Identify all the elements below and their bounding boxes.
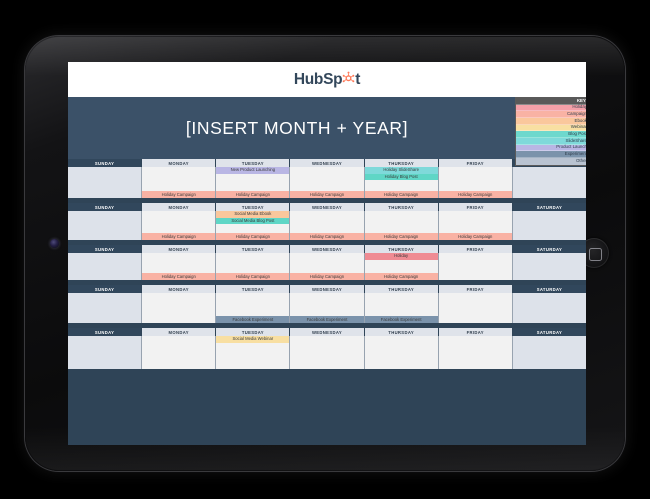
- day-header-friday: FRIDAY: [439, 203, 513, 211]
- calendar-week-1: SUNDAYMONDAYTUESDAYWEDNESDAYTHURSDAYFRID…: [68, 159, 586, 198]
- event-chip[interactable]: Holiday SlideShare: [365, 167, 438, 174]
- calendar-cell-monday[interactable]: Holiday Campaign: [142, 167, 216, 198]
- event-chip[interactable]: Holiday: [365, 253, 438, 260]
- day-header-monday: MONDAY: [142, 245, 216, 253]
- day-header-thursday: THURSDAY: [365, 203, 439, 211]
- calendar-cell-saturday[interactable]: [513, 211, 586, 240]
- day-header-row: SUNDAYMONDAYTUESDAYWEDNESDAYTHURSDAYFRID…: [68, 245, 586, 253]
- calendar-cell-tuesday[interactable]: Social Media Webinar: [216, 336, 290, 369]
- event-chip[interactable]: Holiday Campaign: [365, 273, 438, 280]
- event-chip[interactable]: Holiday Campaign: [365, 233, 438, 240]
- cell-bottom-events: Holiday Campaign: [365, 273, 438, 280]
- cell-top-events: Holiday: [365, 253, 438, 260]
- day-header-thursday: THURSDAY: [365, 328, 439, 336]
- tablet-device: HubSp t: [25, 36, 625, 471]
- cell-top-events: New Product Launching: [216, 167, 289, 174]
- day-header-row: SUNDAYMONDAYTUESDAYWEDNESDAYTHURSDAYFRID…: [68, 203, 586, 211]
- calendar-cell-sunday[interactable]: [68, 167, 142, 198]
- calendar-cell-saturday[interactable]: [513, 253, 586, 280]
- front-camera-icon: [50, 239, 59, 248]
- tablet-screen: HubSp t: [68, 62, 586, 445]
- day-header-thursday: THURSDAY: [365, 245, 439, 253]
- cell-bottom-events: Facebook Experiment: [290, 316, 363, 323]
- cell-bottom-events: Holiday Campaign: [290, 191, 363, 198]
- cell-bottom-events: Facebook Experiment: [365, 316, 438, 323]
- calendar-bottom-band: [68, 369, 586, 377]
- event-chip[interactable]: Holiday Campaign: [290, 273, 363, 280]
- legend-item-label: Experiment: [565, 152, 586, 156]
- day-header-row: SUNDAYMONDAYTUESDAYWEDNESDAYTHURSDAYFRID…: [68, 285, 586, 293]
- day-header-saturday: SATURDAY: [513, 245, 586, 253]
- day-header-monday: MONDAY: [142, 159, 216, 167]
- event-chip[interactable]: Holiday Campaign: [216, 273, 289, 280]
- day-header-row: SUNDAYMONDAYTUESDAYWEDNESDAYTHURSDAYFRID…: [68, 159, 586, 167]
- day-header-sunday: SUNDAY: [68, 159, 142, 167]
- cell-bottom-events: Holiday Campaign: [290, 273, 363, 280]
- legend-item-label: Product Launch: [556, 145, 586, 149]
- calendar-cells-row: Social Media Webinar: [68, 336, 586, 369]
- page-title: [INSERT MONTH + YEAR]: [186, 118, 408, 139]
- event-chip[interactable]: New Product Launching: [216, 167, 289, 174]
- cell-bottom-events: Holiday Campaign: [216, 191, 289, 198]
- calendar-cell-friday[interactable]: Holiday Campaign: [439, 167, 513, 198]
- logo-text-part2: t: [355, 71, 360, 89]
- legend-item-label: Holiday: [572, 105, 586, 109]
- day-header-thursday: THURSDAY: [365, 285, 439, 293]
- day-header-tuesday: TUESDAY: [216, 285, 290, 293]
- calendar-cell-thursday[interactable]: HolidayHoliday Campaign: [365, 253, 439, 280]
- day-header-tuesday: TUESDAY: [216, 159, 290, 167]
- event-chip[interactable]: Facebook Experiment: [365, 316, 438, 323]
- day-header-monday: MONDAY: [142, 203, 216, 211]
- day-header-monday: MONDAY: [142, 328, 216, 336]
- calendar-cell-saturday[interactable]: [513, 293, 586, 323]
- calendar-cell-wednesday[interactable]: Holiday Campaign: [290, 253, 364, 280]
- day-header-saturday: SATURDAY: [513, 203, 586, 211]
- hubspot-sprocket-icon: [342, 71, 355, 84]
- calendar-cell-sunday[interactable]: [68, 293, 142, 323]
- day-header-wednesday: WEDNESDAY: [290, 245, 364, 253]
- calendar-title-band: [INSERT MONTH + YEAR] KEY: HolidayCampai…: [68, 97, 586, 159]
- event-chip[interactable]: Holiday Campaign: [290, 191, 363, 198]
- day-header-wednesday: WEDNESDAY: [290, 203, 364, 211]
- legend-item-blog-post: Blog Post: [516, 131, 586, 138]
- day-header-wednesday: WEDNESDAY: [290, 285, 364, 293]
- event-chip[interactable]: Social Media Ebook: [216, 211, 289, 218]
- cell-bottom-events: Holiday Campaign: [142, 191, 215, 198]
- calendar-cell-friday[interactable]: [439, 336, 513, 369]
- calendar-cell-friday[interactable]: Holiday Campaign: [439, 211, 513, 240]
- event-chip[interactable]: Facebook Experiment: [290, 316, 363, 323]
- day-header-tuesday: TUESDAY: [216, 245, 290, 253]
- calendar-cells-row: Holiday CampaignSocial Media EbookSocial…: [68, 211, 586, 240]
- day-header-tuesday: TUESDAY: [216, 203, 290, 211]
- legend-item-label: Blog Post: [568, 132, 586, 136]
- calendar-cell-sunday[interactable]: [68, 253, 142, 280]
- calendar-cell-wednesday[interactable]: [290, 336, 364, 369]
- event-chip[interactable]: Holiday Campaign: [142, 233, 215, 240]
- calendar-cell-tuesday[interactable]: Social Media EbookSocial Media Blog Post…: [216, 211, 290, 240]
- calendar-cell-monday[interactable]: [142, 336, 216, 369]
- cell-bottom-events: Holiday Campaign: [365, 191, 438, 198]
- calendar-cell-thursday[interactable]: Holiday SlideShareHoliday Blog PostHolid…: [365, 167, 439, 198]
- calendar-cell-wednesday[interactable]: Facebook Experiment: [290, 293, 364, 323]
- calendar-cell-wednesday[interactable]: Holiday Campaign: [290, 167, 364, 198]
- day-header-sunday: SUNDAY: [68, 203, 142, 211]
- calendar-cell-thursday[interactable]: Holiday Campaign: [365, 211, 439, 240]
- calendar-cells-row: Holiday CampaignNew Product LaunchingHol…: [68, 167, 586, 198]
- event-chip[interactable]: Facebook Experiment: [216, 316, 289, 323]
- event-chip[interactable]: Holiday Campaign: [216, 191, 289, 198]
- calendar-cell-wednesday[interactable]: Holiday Campaign: [290, 211, 364, 240]
- calendar-cell-thursday[interactable]: Facebook Experiment: [365, 293, 439, 323]
- day-header-saturday: SATURDAY: [513, 328, 586, 336]
- legend-item-experiment: Experiment: [516, 151, 586, 158]
- calendar-week-2: SUNDAYMONDAYTUESDAYWEDNESDAYTHURSDAYFRID…: [68, 203, 586, 240]
- event-chip[interactable]: Holiday Blog Post: [365, 174, 438, 181]
- cell-top-events: Holiday SlideShareHoliday Blog Post: [365, 167, 438, 180]
- day-header-sunday: SUNDAY: [68, 245, 142, 253]
- legend-item-label: SlideShare: [566, 139, 586, 143]
- event-chip[interactable]: Holiday Campaign: [290, 233, 363, 240]
- legend-item-campaign: Campaign: [516, 111, 586, 118]
- cell-top-events: Social Media Webinar: [216, 336, 289, 343]
- legend-item-label: Campaign: [567, 112, 586, 116]
- event-chip[interactable]: Social Media Webinar: [216, 336, 289, 343]
- content-calendar: SUNDAYMONDAYTUESDAYWEDNESDAYTHURSDAYFRID…: [68, 159, 586, 369]
- cell-bottom-events: Holiday Campaign: [439, 233, 512, 240]
- legend-item-label: Webinar: [571, 125, 586, 129]
- calendar-cell-saturday[interactable]: [513, 167, 586, 198]
- day-header-friday: FRIDAY: [439, 285, 513, 293]
- legend-item-label: Ebook: [575, 119, 586, 123]
- calendar-cell-saturday[interactable]: [513, 336, 586, 369]
- event-chip[interactable]: Holiday Campaign: [439, 191, 512, 198]
- brand-header: HubSp t: [68, 62, 586, 97]
- cell-bottom-events: Holiday Campaign: [142, 273, 215, 280]
- day-header-sunday: SUNDAY: [68, 285, 142, 293]
- day-header-thursday: THURSDAY: [365, 159, 439, 167]
- cell-top-events: Social Media EbookSocial Media Blog Post: [216, 211, 289, 224]
- legend-key: KEY: HolidayCampaignEbookWebinarBlog Pos…: [515, 97, 586, 166]
- cell-bottom-events: Holiday Campaign: [216, 273, 289, 280]
- day-header-wednesday: WEDNESDAY: [290, 159, 364, 167]
- event-chip[interactable]: Social Media Blog Post: [216, 218, 289, 225]
- cell-bottom-events: Holiday Campaign: [439, 191, 512, 198]
- day-header-saturday: SATURDAY: [513, 285, 586, 293]
- cell-bottom-events: Holiday Campaign: [216, 233, 289, 240]
- calendar-cells-row: Facebook ExperimentFacebook ExperimentFa…: [68, 293, 586, 323]
- calendar-cell-tuesday[interactable]: New Product LaunchingHoliday Campaign: [216, 167, 290, 198]
- calendar-cell-tuesday[interactable]: Facebook Experiment: [216, 293, 290, 323]
- cell-bottom-events: Holiday Campaign: [142, 233, 215, 240]
- calendar-cell-friday[interactable]: [439, 253, 513, 280]
- cell-bottom-events: Facebook Experiment: [216, 316, 289, 323]
- day-header-monday: MONDAY: [142, 285, 216, 293]
- calendar-cell-sunday[interactable]: [68, 336, 142, 369]
- cell-bottom-events: Holiday Campaign: [365, 233, 438, 240]
- event-chip[interactable]: Holiday Campaign: [439, 233, 512, 240]
- event-chip[interactable]: Holiday Campaign: [365, 191, 438, 198]
- calendar-cells-row: Holiday CampaignHoliday CampaignHoliday …: [68, 253, 586, 280]
- calendar-week-4: SUNDAYMONDAYTUESDAYWEDNESDAYTHURSDAYFRID…: [68, 285, 586, 323]
- calendar-week-3: SUNDAYMONDAYTUESDAYWEDNESDAYTHURSDAYFRID…: [68, 245, 586, 280]
- legend-item-label: Other: [576, 159, 586, 163]
- legend-item-other: Other: [516, 158, 586, 165]
- calendar-cell-monday[interactable]: [142, 293, 216, 323]
- calendar-cell-monday[interactable]: Holiday Campaign: [142, 211, 216, 240]
- calendar-cell-monday[interactable]: Holiday Campaign: [142, 253, 216, 280]
- event-chip[interactable]: Holiday Campaign: [142, 273, 215, 280]
- home-button-square-icon: [589, 248, 602, 261]
- day-header-friday: FRIDAY: [439, 159, 513, 167]
- day-header-friday: FRIDAY: [439, 245, 513, 253]
- day-header-wednesday: WEDNESDAY: [290, 328, 364, 336]
- day-header-friday: FRIDAY: [439, 328, 513, 336]
- event-chip[interactable]: Holiday Campaign: [216, 233, 289, 240]
- day-header-tuesday: TUESDAY: [216, 328, 290, 336]
- calendar-week-5: SUNDAYMONDAYTUESDAYWEDNESDAYTHURSDAYFRID…: [68, 328, 586, 369]
- day-header-sunday: SUNDAY: [68, 328, 142, 336]
- event-chip[interactable]: Holiday Campaign: [142, 191, 215, 198]
- cell-bottom-events: Holiday Campaign: [290, 233, 363, 240]
- calendar-cell-friday[interactable]: [439, 293, 513, 323]
- calendar-cell-tuesday[interactable]: Holiday Campaign: [216, 253, 290, 280]
- hubspot-logo: HubSp t: [294, 71, 360, 89]
- calendar-cell-sunday[interactable]: [68, 211, 142, 240]
- day-header-row: SUNDAYMONDAYTUESDAYWEDNESDAYTHURSDAYFRID…: [68, 328, 586, 336]
- calendar-cell-thursday[interactable]: [365, 336, 439, 369]
- logo-text-part1: HubSp: [294, 71, 342, 89]
